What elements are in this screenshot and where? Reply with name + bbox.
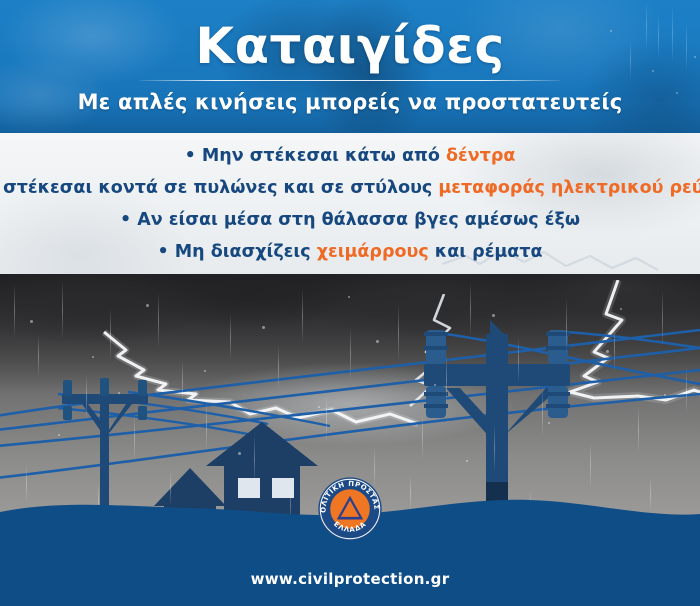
tip-bullet: • — [185, 146, 196, 166]
page-subtitle: Με απλές κινήσεις μπορείς να προστατευτε… — [0, 81, 700, 114]
page-title: Καταιγίδες — [0, 0, 700, 74]
tip-highlight: χειμάρρους — [317, 242, 429, 262]
civil-protection-logo: ΠΟΛΙΤΙΚΗ ΠΡΟΣΤΑΣΙΑ ΕΛΛΑΔΑ — [317, 476, 383, 542]
tip-item-1: • Μην στέκεσαι κάτω από δέντρα — [185, 140, 516, 172]
tip-text: Μη διασχίζεις — [175, 242, 317, 262]
tip-text: Μην στέκεσαι κοντά σε πυλώνες και σε στύ… — [0, 178, 438, 198]
tip-bullet: • — [120, 210, 131, 230]
header-banner: Καταιγίδες Με απλές κινήσεις μπορείς να … — [0, 0, 700, 133]
tip-text: Μην στέκεσαι κάτω από — [202, 146, 446, 166]
tip-text-post: και ρέματα — [429, 242, 543, 262]
safety-tips-panel: • Μην στέκεσαι κάτω από δέντρα • Μην στέ… — [0, 133, 700, 274]
tip-item-4: • Μη διασχίζεις χειμάρρους και ρέματα — [157, 236, 542, 268]
tip-highlight: μεταφοράς ηλεκτρικού ρεύματος — [438, 178, 700, 198]
tip-item-3: • Αν είσαι μέσα στη θάλασσα βγες αμέσως … — [120, 204, 580, 236]
tip-item-2: • Μην στέκεσαι κοντά σε πυλώνες και σε σ… — [0, 172, 700, 204]
tip-text: Αν είσαι μέσα στη θάλασσα βγες αμέσως έξ… — [137, 210, 580, 230]
storm-illustration: ΠΟΛΙΤΙΚΗ ΠΡΟΣΤΑΣΙΑ ΕΛΛΑΔΑ www.civilprote… — [0, 274, 700, 606]
tip-bullet: • — [157, 242, 168, 262]
tip-highlight: δέντρα — [446, 146, 515, 166]
poster-root: Καταιγίδες Με απλές κινήσεις μπορείς να … — [0, 0, 700, 606]
website-url[interactable]: www.civilprotection.gr — [0, 570, 700, 588]
